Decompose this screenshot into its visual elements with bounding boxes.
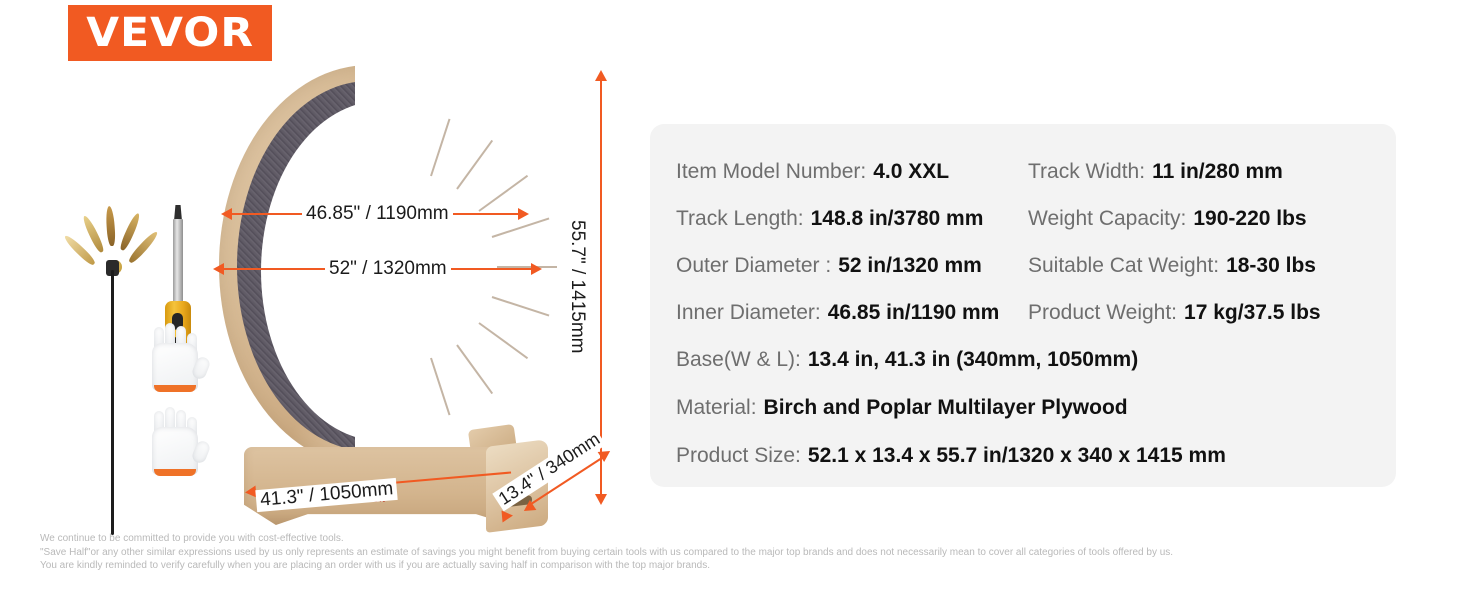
feather-icon [81,214,106,253]
arrow-left-icon [221,208,232,220]
spec-value: 4.0 XXL [873,160,949,184]
disclaimer-line-3: You are kindly reminded to verify carefu… [40,559,1440,573]
vevor-logo: VEVOR [68,5,272,61]
spec-row: Weight Capacity:190-220 lbs [1028,195,1396,242]
spec-value: 13.4 in, 41.3 in (340mm, 1050mm) [808,348,1138,372]
spec-row: Track Width:11 in/280 mm [1028,148,1396,195]
glove-palm [152,427,198,475]
spec-row: Product Weight:17 kg/37.5 lbs [1028,289,1396,336]
work-glove-icon [146,407,204,479]
spec-row: Inner Diameter:46.85 in/1190 mm [676,289,1028,336]
spec-value: 17 kg/37.5 lbs [1184,301,1321,325]
spec-label: Base(W & L): [676,348,801,372]
glove-cuff [154,469,196,476]
height-label: 55.7" / 1415mm [566,215,588,358]
disclaimer-line-1: We continue to be committed to provide y… [40,532,1440,546]
spec-row: Outer Diameter :52 in/1320 mm [676,242,1028,289]
arrow-right-icon [518,208,529,220]
spec-value: 11 in/280 mm [1152,160,1283,184]
spec-value: 52 in/1320 mm [838,254,982,278]
product-spec-infographic: VEVOR VEVOR [0,0,1464,600]
arrow-left-icon [213,263,224,275]
disclaimer-line-2: "Save Half"or any other similar expressi… [40,546,1440,560]
spec-row: Product Size:52.1 x 13.4 x 55.7 in/1320 … [676,432,1396,480]
spec-label: Outer Diameter : [676,254,831,278]
spec-row: Base(W & L):13.4 in, 41.3 in (340mm, 105… [676,336,1396,384]
feather-icon [105,206,116,246]
outer-diameter-label: 52" / 1320mm [325,258,451,280]
arrow-right-icon [531,263,542,275]
spec-label: Inner Diameter: [676,301,821,325]
spec-value: Birch and Poplar Multilayer Plywood [764,396,1128,420]
spec-label: Item Model Number: [676,160,866,184]
spec-row: Item Model Number:4.0 XXL [676,148,1028,195]
teaser-wand-rod [111,270,114,535]
spec-value: 52.1 x 13.4 x 55.7 in/1320 x 340 x 1415 … [808,444,1226,468]
screwdriver-shaft [173,219,183,305]
spec-label: Track Length: [676,207,804,231]
glove-cuff [154,385,196,392]
glove-palm [152,343,198,391]
work-glove-icon [146,323,204,395]
specification-panel: Item Model Number:4.0 XXLTrack Width:11 … [650,124,1396,487]
spec-row: Suitable Cat Weight:18-30 lbs [1028,242,1396,289]
spec-label: Material: [676,396,757,420]
spec-label: Weight Capacity: [1028,207,1186,231]
product-illustration: VEVOR [0,55,640,525]
arrow-down-icon [595,494,607,505]
spec-value: 148.8 in/3780 mm [811,207,984,231]
disclaimer-text: We continue to be committed to provide y… [40,532,1440,573]
spec-row: Track Length:148.8 in/3780 mm [676,195,1028,242]
vevor-logo-text: VEVOR [86,10,254,56]
spec-value: 46.85 in/1190 mm [828,301,1000,325]
spec-label: Product Size: [676,444,801,468]
spec-label: Suitable Cat Weight: [1028,254,1219,278]
spec-value: 18-30 lbs [1226,254,1316,278]
inner-diameter-label: 46.85" / 1190mm [302,203,453,225]
spec-value: 190-220 lbs [1193,207,1306,231]
spec-row: Material:Birch and Poplar Multilayer Ply… [676,384,1396,432]
spec-label: Track Width: [1028,160,1145,184]
arrow-up-icon [595,70,607,81]
spec-label: Product Weight: [1028,301,1177,325]
specification-grid: Item Model Number:4.0 XXLTrack Width:11 … [676,148,1396,480]
height-line [600,80,602,495]
